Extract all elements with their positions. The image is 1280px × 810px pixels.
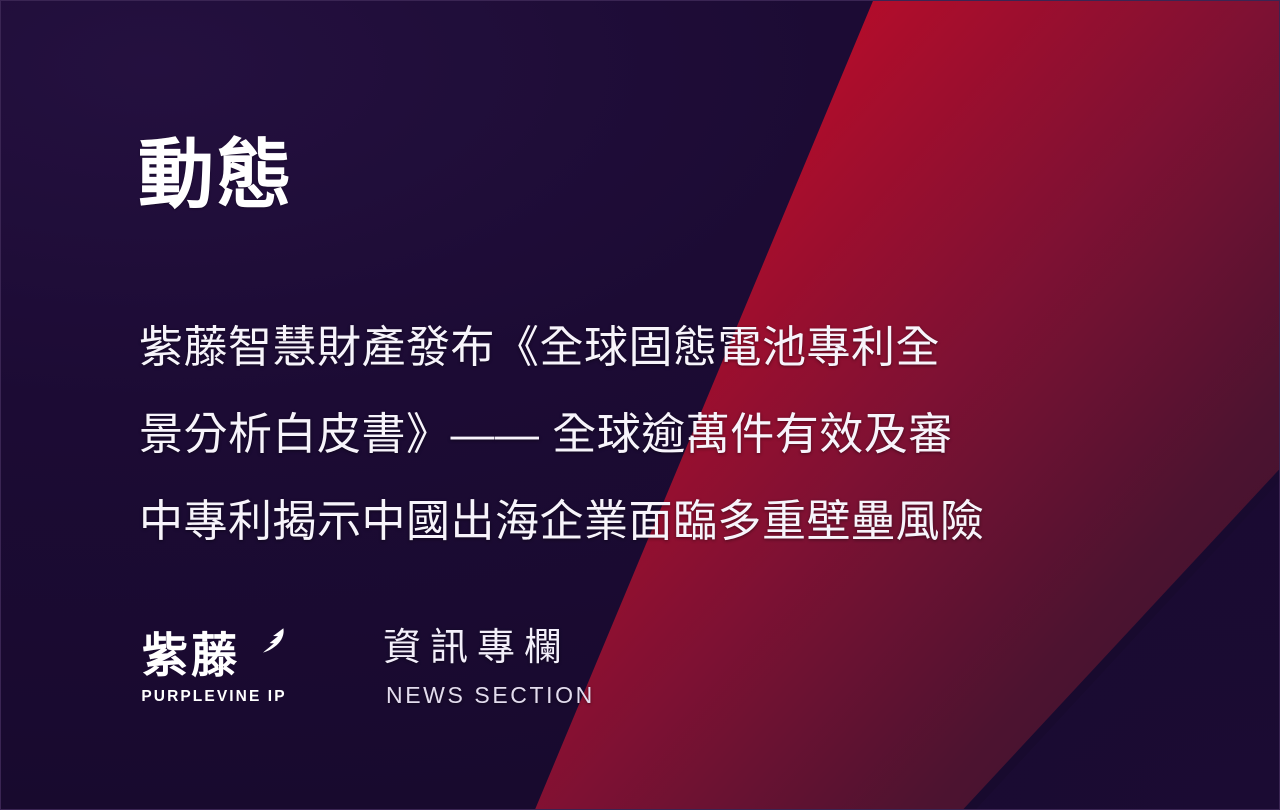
leaf-wing-icon bbox=[250, 627, 286, 657]
news-banner-poster: 動態 紫藤智慧財產發布《全球固態電池專利全 景分析白皮書》—— 全球逾萬件有效及… bbox=[0, 0, 1280, 810]
section-label: 資訊專欄 NEWS SECTION bbox=[383, 621, 595, 709]
headline-line-3: 中專利揭示中國出海企業面臨多重壁壘風險 bbox=[139, 478, 1089, 565]
headline-line-1: 紫藤智慧財產發布《全球固態電池專利全 bbox=[139, 304, 1089, 391]
section-label-en: NEWS SECTION bbox=[386, 681, 595, 709]
headline-line-2: 景分析白皮書》—— 全球逾萬件有效及審 bbox=[139, 391, 1089, 478]
section-label-cjk: 資訊專欄 bbox=[383, 623, 595, 673]
brand-logo: 紫藤 PURPLEVINE IP bbox=[138, 621, 298, 707]
logo-mark: 紫藤 bbox=[138, 627, 290, 685]
poster-content: 動態 紫藤智慧財產發布《全球固態電池專利全 景分析白皮書》—— 全球逾萬件有效及… bbox=[138, 1, 1138, 810]
logo-wordmark: PURPLEVINE IP bbox=[138, 687, 290, 707]
page-title: 動態 bbox=[138, 138, 294, 214]
headline: 紫藤智慧財產發布《全球固態電池專利全 景分析白皮書》—— 全球逾萬件有效及審 中… bbox=[139, 304, 1089, 565]
logo-cjk-text: 紫藤 bbox=[142, 625, 240, 685]
poster-footer: 紫藤 PURPLEVINE IP 資訊專欄 NEWS SECTION bbox=[138, 621, 595, 709]
